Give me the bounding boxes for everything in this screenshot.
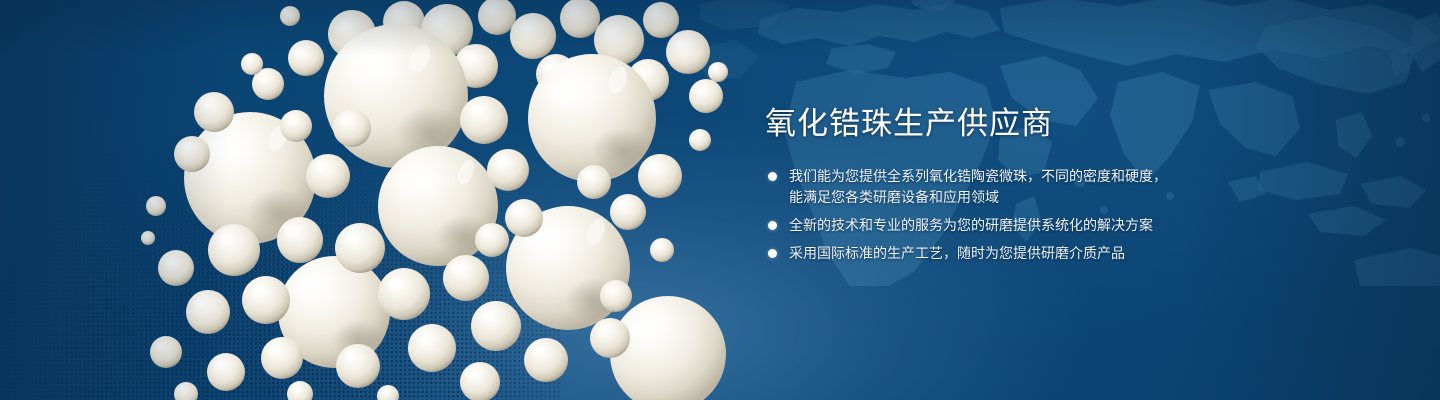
bullet-line: 全新的技术和专业的服务为您的研磨提供系统化的解决方案	[789, 215, 1383, 236]
feature-list: 我们能为您提供全系列氧化锆陶瓷微珠，不同的密度和硬度， 能满足您各类研磨设备和应…	[763, 166, 1383, 264]
bullet-dot-icon	[768, 172, 777, 181]
banner-headline: 氧化锆珠生产供应商	[765, 104, 1383, 144]
list-item: 全新的技术和专业的服务为您的研磨提供系统化的解决方案	[763, 215, 1383, 236]
banner-content: 氧化锆珠生产供应商 我们能为您提供全系列氧化锆陶瓷微珠，不同的密度和硬度， 能满…	[763, 104, 1383, 264]
bullet-line: 能满足您各类研磨设备和应用领域	[789, 187, 1383, 208]
bullet-line: 我们能为您提供全系列氧化锆陶瓷微珠，不同的密度和硬度，	[789, 166, 1383, 187]
bullet-dot-icon	[768, 221, 777, 230]
bullet-dot-icon	[768, 249, 777, 258]
list-item: 我们能为您提供全系列氧化锆陶瓷微珠，不同的密度和硬度， 能满足您各类研磨设备和应…	[763, 166, 1383, 208]
list-item: 采用国际标准的生产工艺，随时为您提供研磨介质产品	[763, 243, 1383, 264]
promo-banner: 氧化锆珠生产供应商 我们能为您提供全系列氧化锆陶瓷微珠，不同的密度和硬度， 能满…	[0, 0, 1440, 400]
bullet-line: 采用国际标准的生产工艺，随时为您提供研磨介质产品	[789, 243, 1383, 264]
